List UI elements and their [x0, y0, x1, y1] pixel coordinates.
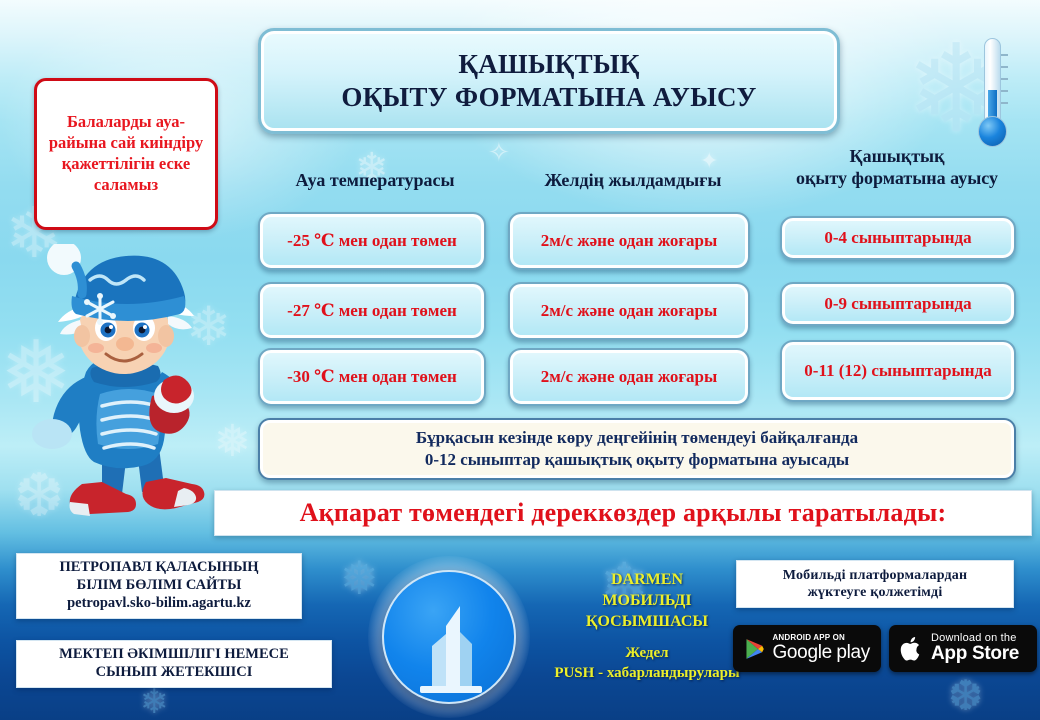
building-icon: [394, 598, 504, 702]
grades-cell-3: 0-11 (12) сыныптарында: [780, 340, 1016, 402]
weather-clothing-reminder: Балаларды ауа-райына сай киіндіру қажетт…: [34, 78, 218, 230]
mobile-line-1: Мобильді платформалардан: [783, 567, 968, 584]
snowflake-icon: ❅: [340, 556, 379, 602]
temperature-cell-2: -27 ℃ мен одан төмен: [258, 282, 486, 340]
sparkle-icon: ✧: [488, 140, 510, 166]
google-play-icon: [744, 635, 765, 663]
temperature-value-2: -27 ℃ мен одан төмен: [287, 300, 457, 322]
temperature-cell-1: -25 ℃ мен одан төмен: [258, 212, 486, 270]
title-line-2: ОҚЫТУ ФОРМАТЫНА АУЫСУ: [341, 82, 756, 112]
wind-value-2: 2м/с және одан жоғары: [541, 300, 718, 322]
mobile-platforms-box: Мобильді платформалардан жүктеуге қолжет…: [736, 560, 1014, 608]
app-store-badge[interactable]: Download on the App Store: [889, 625, 1037, 672]
apple-badge-big-text: App Store: [931, 644, 1019, 664]
wind-cell-2: 2м/с және одан жоғары: [508, 282, 750, 340]
temperature-value-3: -30 ℃ мен одан төмен: [287, 366, 457, 388]
push-line-1: Жедел: [625, 645, 668, 661]
grades-value-1: 0-4 сыныптарында: [824, 227, 971, 249]
wind-value-3: 2м/с және одан жоғары: [541, 366, 718, 388]
reminder-text: Балаларды ауа-райына сай киіндіру қажетт…: [43, 112, 209, 195]
banner-text: Ақпарат төмендегі дереккөздер арқылы тар…: [300, 498, 947, 528]
site-url[interactable]: petropavl.sko-bilim.agartu.kz: [67, 594, 251, 613]
title-line-1: ҚАШЫҚТЫҚ: [458, 49, 639, 79]
wind-value-1: 2м/с және одан жоғары: [541, 230, 718, 252]
column-header-temperature: Ауа температурасы: [262, 170, 488, 192]
google-play-badge[interactable]: ANDROID APP ON Google play: [733, 625, 881, 672]
winter-boy-illustration: [24, 244, 240, 540]
column-header-grades: Қашықтық оқыту форматына ауысу: [766, 146, 1028, 189]
admin-line-1: МЕКТЕП ӘКІМШІЛІГІ НЕМЕСЕ: [59, 646, 289, 664]
snowflake-icon: ❄: [140, 686, 169, 720]
grades-value-3: 0-11 (12) сыныптарында: [804, 360, 991, 382]
temperature-value-1: -25 ℃ мен одан төмен: [287, 230, 457, 252]
grades-cell-2: 0-9 сыныптарында: [780, 282, 1016, 326]
darmen-app-text: DARMEN МОБИЛЬДІ ҚОСЫМШАСЫ Жедел PUSH - х…: [528, 570, 766, 683]
blizzard-note: Бұрқасын кезінде көру деңгейінің төменде…: [258, 418, 1016, 480]
wind-cell-3: 2м/с және одан жоғары: [508, 348, 750, 406]
thermometer-icon: [975, 38, 1011, 154]
grade-header-line-2: оқыту форматына ауысу: [796, 168, 998, 188]
information-sources-banner: Ақпарат төмендегі дереккөздер арқылы тар…: [214, 490, 1032, 536]
google-badge-word-1: Google: [772, 642, 831, 663]
grade-header-line-1: Қашықтық: [850, 146, 945, 166]
apple-icon: [900, 635, 924, 663]
grades-cell-1: 0-4 сыныптарында: [780, 216, 1016, 260]
admin-line-2: СЫНЫП ЖЕТЕКШІСІ: [96, 664, 253, 682]
app-name-line-2: МОБИЛЬДІ: [602, 592, 691, 609]
page-title: ҚАШЫҚТЫҚ ОҚЫТУ ФОРМАТЫНА АУЫСУ: [258, 28, 840, 134]
site-line-1: ПЕТРОПАВЛ ҚАЛАСЫНЫҢ: [59, 559, 258, 577]
push-line-2: PUSH - хабарландырулары: [554, 665, 739, 681]
education-department-site-box[interactable]: ПЕТРОПАВЛ ҚАЛАСЫНЫҢ БІЛІМ БӨЛІМІ САЙТЫ p…: [16, 553, 302, 619]
school-administration-box: МЕКТЕП ӘКІМШІЛІГІ НЕМЕСЕ СЫНЫП ЖЕТЕКШІСІ: [16, 640, 332, 688]
note-line-1: Бұрқасын кезінде көру деңгейінің төменде…: [416, 428, 858, 447]
mobile-line-2: жүктеуге қолжетімді: [808, 584, 943, 601]
snowflake-icon: ❆: [948, 676, 983, 718]
grades-value-2: 0-9 сыныптарында: [824, 293, 971, 315]
app-name-line-1: DARMEN: [611, 571, 683, 588]
site-line-2: БІЛІМ БӨЛІМІ САЙТЫ: [77, 577, 242, 595]
poster-root: ❄ ❄ ❅ ❆ ❄ ❅ ❄ ❅ ❆ ❄ ✦ ✧ ✦ ❄ ҚАШЫҚТЫҚ ОҚЫ…: [0, 0, 1040, 720]
wind-cell-1: 2м/с және одан жоғары: [508, 212, 750, 270]
app-name-line-3: ҚОСЫМШАСЫ: [586, 613, 708, 630]
note-line-2: 0-12 сыныптар қашықтық оқыту форматына а…: [425, 450, 849, 469]
column-header-wind: Желдің жылдамдығы: [508, 170, 758, 192]
boy-svg: [24, 244, 240, 540]
city-logo: [382, 570, 516, 704]
google-badge-word-2: play: [836, 642, 870, 663]
logo-circle: [382, 570, 516, 704]
sparkle-icon: ✦: [700, 150, 718, 172]
temperature-cell-3: -30 ℃ мен одан төмен: [258, 348, 486, 406]
